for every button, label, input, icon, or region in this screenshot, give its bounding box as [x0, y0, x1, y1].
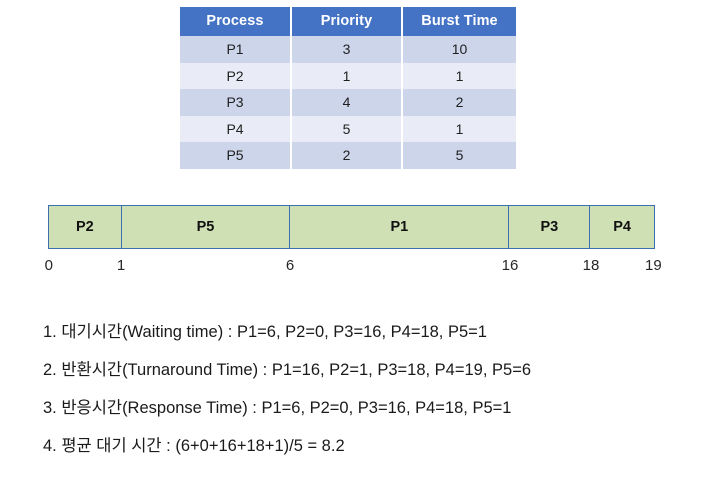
axis-tick-18: 18 [583, 257, 600, 274]
table-row: P5 2 5 [180, 142, 516, 169]
gantt-segment-p3: P3 [509, 206, 590, 248]
cell-process: P5 [180, 142, 291, 169]
note-line-waiting-time: 1. 대기시간(Waiting time) : P1=6, P2=0, P3=1… [43, 313, 703, 351]
gantt-segment-label: P5 [197, 219, 215, 235]
gantt-segment-p2: P2 [49, 206, 122, 248]
cell-process: P1 [180, 36, 291, 63]
cell-process: P2 [180, 63, 291, 90]
cell-process: P4 [180, 116, 291, 143]
cell-burst-time: 5 [402, 142, 516, 169]
cell-burst-time: 10 [402, 36, 516, 63]
gantt-segment-p5: P5 [122, 206, 290, 248]
gantt-segment-p1: P1 [290, 206, 509, 248]
process-table: Process Priority Burst Time P1 3 10 P2 1… [180, 7, 516, 169]
table-row: P4 5 1 [180, 116, 516, 143]
gantt-time-axis: 016161819 [48, 257, 655, 281]
gantt-bar: P2P5P1P3P4 [48, 205, 655, 249]
gantt-segment-p4: P4 [590, 206, 654, 248]
note-line-response-time: 3. 반응시간(Response Time) : P1=6, P2=0, P3=… [43, 389, 703, 427]
axis-tick-6: 6 [286, 257, 294, 274]
cell-burst-time: 1 [402, 63, 516, 90]
table-header: Process Priority Burst Time [180, 7, 516, 36]
gantt-segment-label: P2 [76, 219, 94, 235]
table-row: P3 4 2 [180, 89, 516, 116]
cell-priority: 3 [291, 36, 402, 63]
gantt-segment-label: P4 [613, 219, 631, 235]
cell-priority: 2 [291, 142, 402, 169]
cell-burst-time: 1 [402, 116, 516, 143]
column-header-burst-time: Burst Time [402, 7, 516, 36]
cell-process: P3 [180, 89, 291, 116]
column-header-priority: Priority [291, 7, 402, 36]
notes-block: 1. 대기시간(Waiting time) : P1=6, P2=0, P3=1… [43, 313, 703, 465]
gantt-segment-label: P1 [390, 219, 408, 235]
table-row: P2 1 1 [180, 63, 516, 90]
axis-tick-16: 16 [502, 257, 519, 274]
note-line-turnaround-time: 2. 반환시간(Turnaround Time) : P1=16, P2=1, … [43, 351, 703, 389]
axis-tick-0: 0 [45, 257, 53, 274]
cell-priority: 5 [291, 116, 402, 143]
gantt-chart: P2P5P1P3P4 [48, 205, 655, 249]
column-header-process: Process [180, 7, 291, 36]
axis-tick-19: 19 [645, 257, 662, 274]
note-line-average-waiting-time: 4. 평균 대기 시간 : (6+0+16+18+1)/5 = 8.2 [43, 427, 703, 465]
table-body: P1 3 10 P2 1 1 P3 4 2 P4 5 1 P5 2 5 [180, 36, 516, 169]
axis-tick-1: 1 [117, 257, 125, 274]
cell-priority: 1 [291, 63, 402, 90]
gantt-segment-label: P3 [540, 219, 558, 235]
cell-priority: 4 [291, 89, 402, 116]
cell-burst-time: 2 [402, 89, 516, 116]
table-header-row: Process Priority Burst Time [180, 7, 516, 36]
table-row: P1 3 10 [180, 36, 516, 63]
